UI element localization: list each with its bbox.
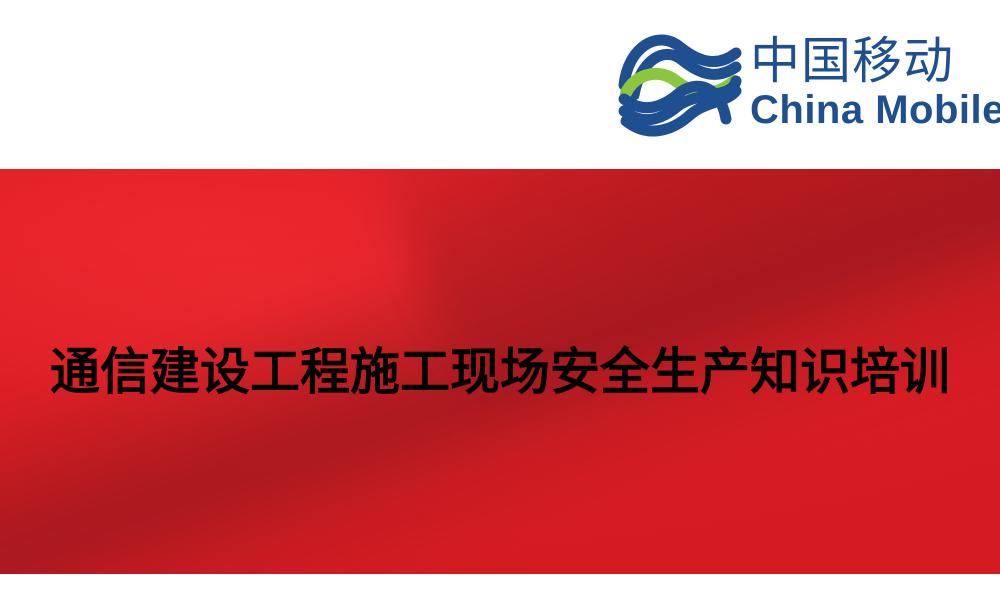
china-mobile-wordmark: 中国移动 China Mobile xyxy=(750,35,1000,131)
slide-footer-band xyxy=(0,574,1000,600)
presentation-slide: 中国移动 China Mobile 通信建设工程施工现场安全生产知识培训 xyxy=(0,0,1000,600)
brand-name-chinese: 中国移动 xyxy=(750,35,1000,87)
china-mobile-logo-lockup: 中国移动 China Mobile xyxy=(618,22,990,144)
slide-header-band: 中国移动 China Mobile xyxy=(0,0,1000,169)
brand-name-english: China Mobile xyxy=(750,89,1000,131)
china-mobile-wave-logo-icon xyxy=(618,23,742,143)
slide-title-text: 通信建设工程施工现场安全生产知识培训 xyxy=(0,169,1000,574)
slide-title-band: 通信建设工程施工现场安全生产知识培训 xyxy=(0,169,1000,574)
